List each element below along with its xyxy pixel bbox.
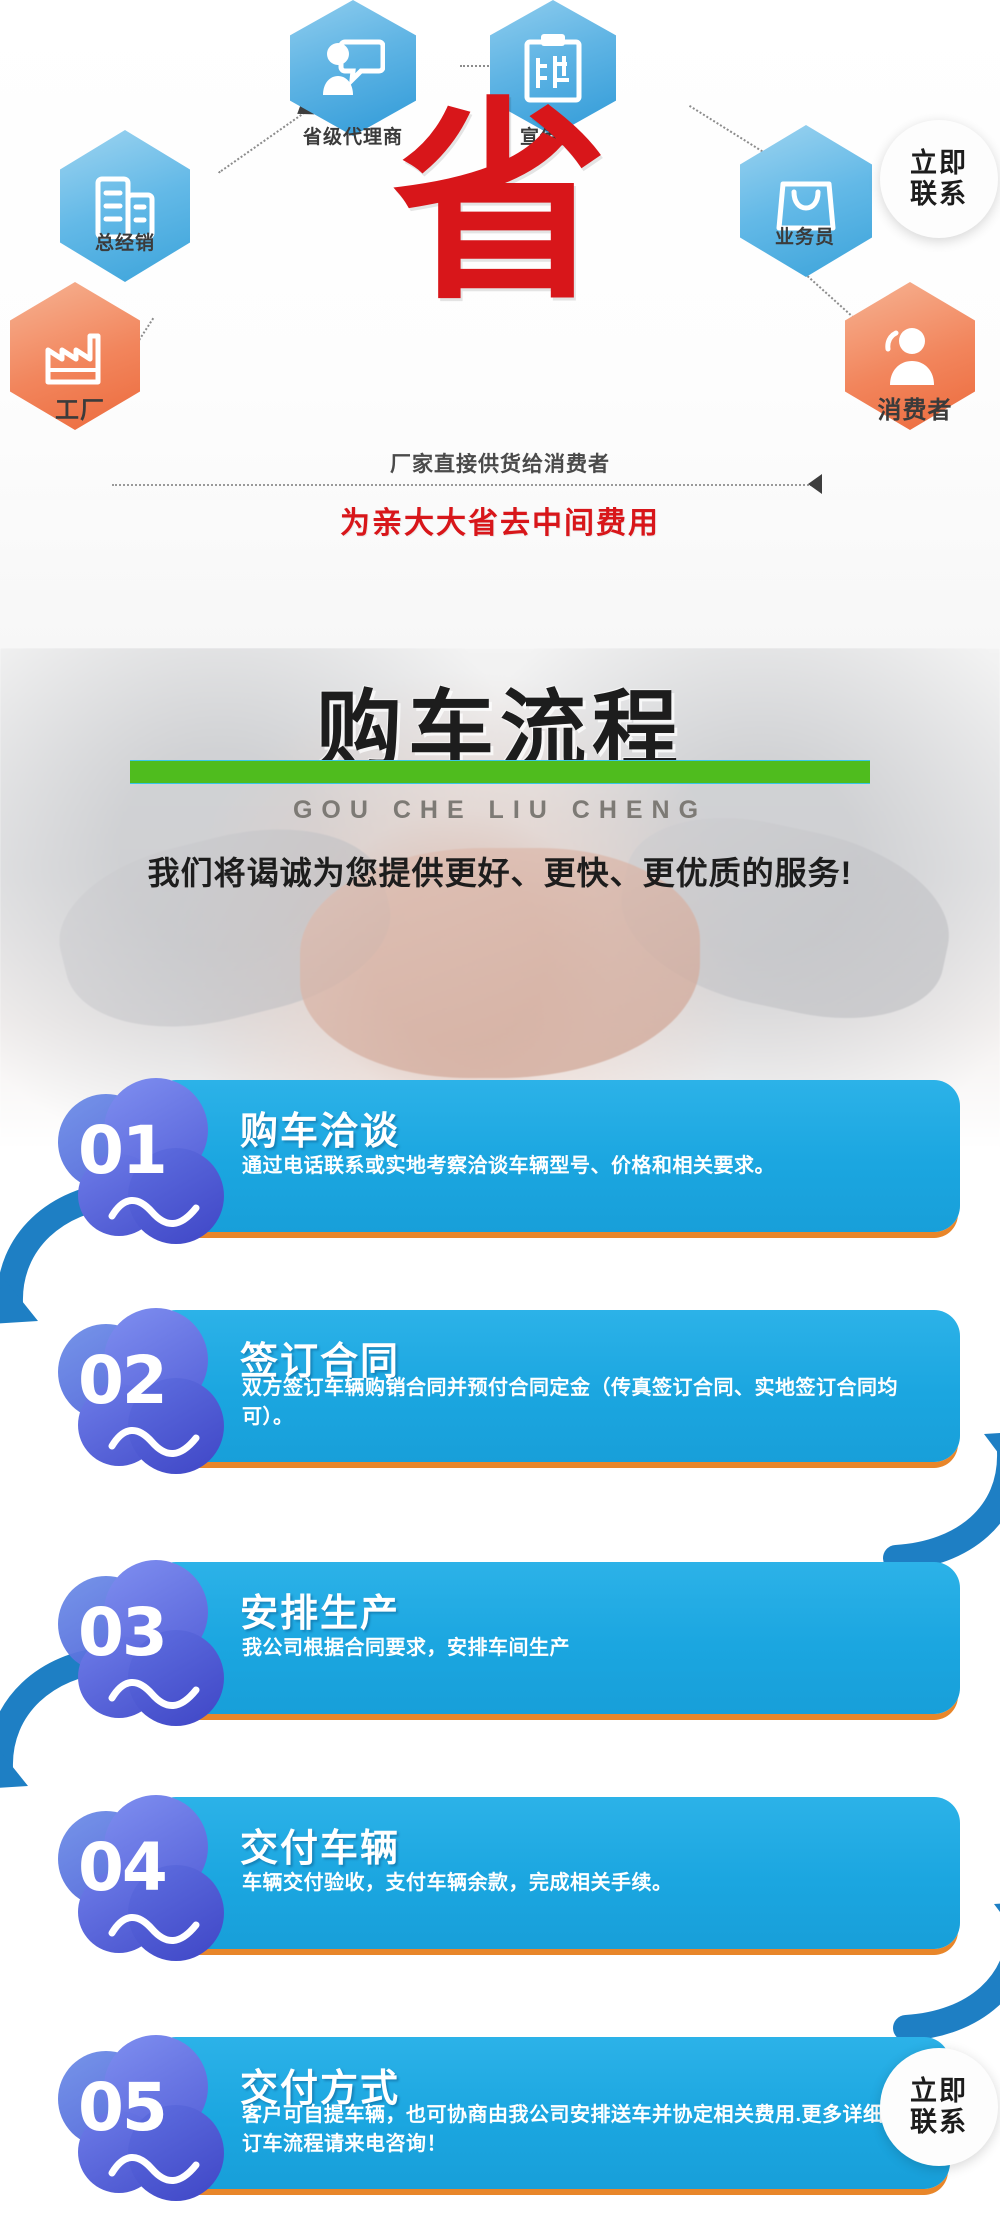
step-desc-2: 双方签订车辆购销合同并预付合同定金（传真签订合同、实地签订合同均可）。	[242, 1374, 902, 1432]
node-consumer-label: 消费者	[850, 390, 980, 425]
step-desc-3: 我公司根据合同要求，安排车间生产	[242, 1634, 942, 1663]
process-step-3[interactable]: 03 安排生产 我公司根据合同要求，安排车间生产	[0, 1548, 1000, 1733]
user-chat-icon	[321, 37, 385, 99]
step-number-3: 03	[78, 1600, 228, 1666]
step-title-3: 安排生产	[240, 1582, 400, 1637]
step-number-4: 04	[78, 1835, 228, 1901]
infographic-page: 省级代理商 宣传费 总经销	[0, 0, 1000, 2238]
contact-button-bottom-line2: 联系	[910, 2107, 968, 2138]
direct-supply-text: 厂家直接供货给消费者	[0, 448, 1000, 478]
contact-button-top-line1: 立即	[910, 148, 968, 179]
process-step-1[interactable]: 01 购车洽谈 通过电话联系或实地考察洽谈车辆型号、价格和相关要求。	[0, 1066, 1000, 1251]
step-wave-2	[108, 1424, 200, 1463]
step-number-1: 01	[78, 1118, 228, 1184]
step-title-4: 交付车辆	[240, 1817, 400, 1872]
factory-icon	[42, 326, 108, 386]
center-character: 省	[0, 95, 1000, 310]
contact-button-top-line2: 联系	[910, 179, 968, 210]
step-number-2: 02	[78, 1348, 228, 1414]
step-desc-1: 通过电话联系或实地考察洽谈车辆型号、价格和相关要求。	[242, 1152, 942, 1181]
step-title-1: 购车洽谈	[240, 1100, 400, 1155]
contact-button-top[interactable]: 立即 联系	[880, 120, 998, 238]
contact-button-bottom-line1: 立即	[910, 2076, 968, 2107]
step-wave-1	[108, 1194, 200, 1233]
process-step-4[interactable]: 04 交付车辆 车辆交付验收，支付车辆余款，完成相关手续。	[0, 1783, 1000, 1968]
node-factory-label: 工厂	[20, 390, 140, 425]
contact-button-bottom[interactable]: 立即 联系	[880, 2048, 998, 2166]
step-wave-4	[108, 1911, 200, 1950]
connector-factory-to-consumer	[112, 484, 812, 486]
step-number-5: 05	[78, 2075, 228, 2141]
supply-chain-section: 省级代理商 宣传费 总经销	[0, 0, 1000, 648]
savings-slogan: 为亲大大省去中间费用	[0, 498, 1000, 542]
title-underline-bar	[130, 761, 870, 783]
step-desc-4: 车辆交付验收，支付车辆余款，完成相关手续。	[242, 1869, 942, 1898]
step-wave-5	[108, 2151, 200, 2190]
purchase-process-section: 购车流程 GOU CHE LIU CHENG 我们将谒诚为您提供更好、更快、更优…	[0, 648, 1000, 2238]
step-wave-3	[108, 1676, 200, 1715]
step-desc-5: 客户可自提车辆，也可协商由我公司安排送车并协定相关费用.更多详细订车流程请来电咨…	[242, 2101, 892, 2159]
page-slogan: 我们将谒诚为您提供更好、更快、更优质的服务!	[0, 848, 1000, 894]
consumer-person-icon	[878, 325, 942, 387]
process-step-5[interactable]: 05 交付方式 客户可自提车辆，也可协商由我公司安排送车并协定相关费用.更多详细…	[0, 2023, 1000, 2208]
page-title-pinyin: GOU CHE LIU CHENG	[0, 796, 1000, 825]
process-step-2[interactable]: 02 签订合同 双方签订车辆购销合同并预付合同定金（传真签订合同、实地签订合同均…	[0, 1296, 1000, 1481]
